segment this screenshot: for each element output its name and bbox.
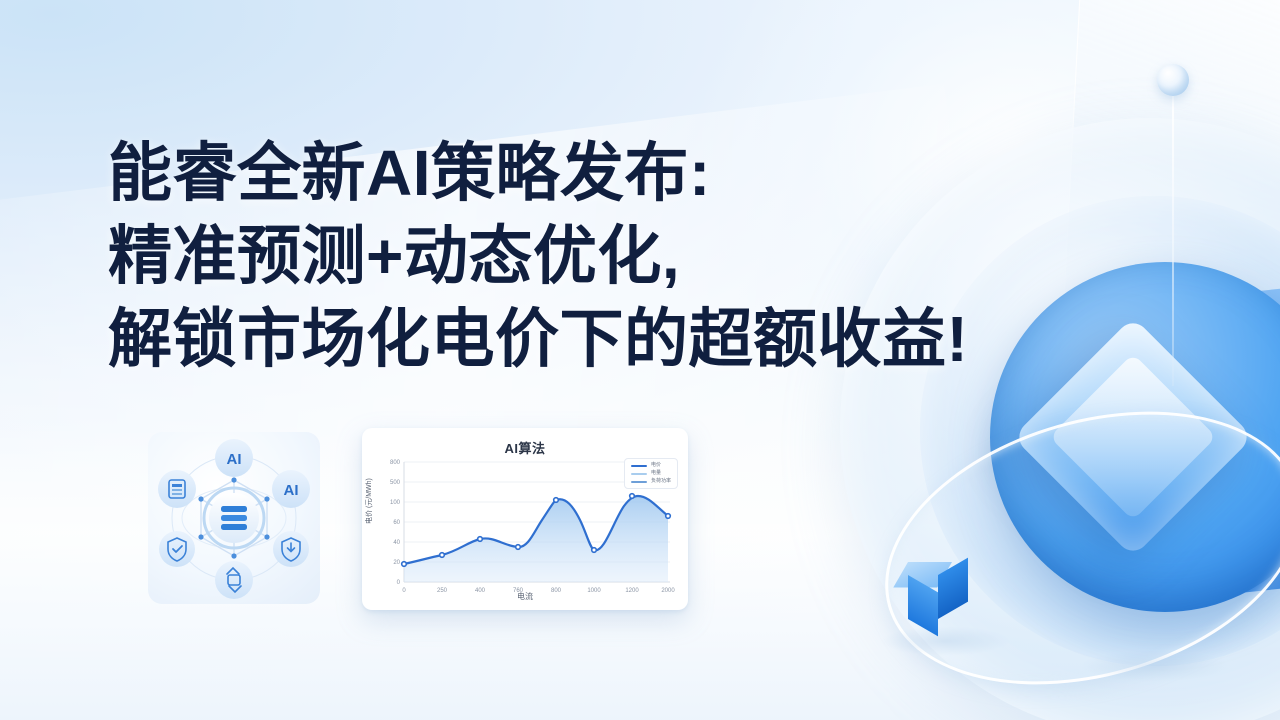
node-shield-download [273, 531, 309, 567]
headline-line-3: 解锁市场化电价下的超额收益! [108, 298, 1088, 381]
legend-label-1: 电价 [651, 463, 661, 468]
svg-text:AI: AI [227, 451, 242, 468]
node-ai-right: AI [272, 470, 310, 508]
floor-shadow-decor [1080, 650, 1230, 682]
svg-text:100: 100 [390, 500, 401, 506]
node-shield-check [159, 531, 195, 567]
hex-network-graphic: AI AI [148, 432, 320, 604]
svg-text:AI: AI [284, 482, 299, 499]
poster-canvas: 能睿全新AI策略发布: 精准预测+动态优化, 解锁市场化电价下的超额收益! [0, 0, 1280, 720]
chart-card[interactable]: AI算法 800 500 [362, 428, 688, 610]
cube-3d-icon [908, 562, 970, 624]
chart-y-ticks: 800 500 100 60 40 20 0 [390, 460, 401, 586]
cube-right-face [938, 558, 968, 619]
legend-swatch-icon [631, 481, 647, 483]
chart-area-fill [404, 496, 668, 582]
chart-x-axis-title: 电流 [362, 591, 688, 602]
chart-legend[interactable]: 电价 电量 负荷功率 [624, 458, 678, 489]
node-clipboard-document [158, 470, 196, 508]
database-stack-icon [221, 506, 247, 530]
svg-text:0: 0 [397, 580, 401, 586]
legend-item-1[interactable]: 电价 [631, 463, 671, 468]
pin-stem-decor [1172, 96, 1174, 386]
cube-top-face [893, 562, 952, 588]
legend-swatch-icon [631, 473, 647, 475]
poster-headline: 能睿全新AI策略发布: 精准预测+动态优化, 解锁市场化电价下的超额收益! [108, 132, 1088, 382]
legend-label-2: 电量 [651, 471, 661, 476]
hex-network-panel: AI AI [148, 432, 320, 604]
legend-item-2[interactable]: 电量 [631, 471, 671, 476]
svg-text:40: 40 [393, 540, 400, 546]
chart-plot: 800 500 100 60 40 20 0 0 250 400 760 800… [362, 428, 688, 610]
headline-line-1: 能睿全新AI策略发布: [108, 132, 1088, 215]
cube-left-face [908, 575, 938, 636]
svg-text:60: 60 [393, 520, 400, 526]
svg-text:20: 20 [393, 560, 400, 566]
svg-text:500: 500 [390, 480, 401, 486]
node-recycle-sync [215, 561, 253, 599]
legend-swatch-icon [631, 465, 647, 467]
node-ai-top: AI [215, 439, 253, 477]
svg-text:800: 800 [390, 460, 401, 466]
chart-y-axis-title: 电价 (元/MWh) [364, 478, 374, 524]
legend-label-3: 负荷功率 [651, 479, 671, 484]
legend-item-3[interactable]: 负荷功率 [631, 479, 671, 484]
sphere-pin-icon [1157, 64, 1189, 96]
headline-line-2: 精准预测+动态优化, [108, 215, 1088, 298]
cube-shadow-decor [880, 626, 1010, 656]
